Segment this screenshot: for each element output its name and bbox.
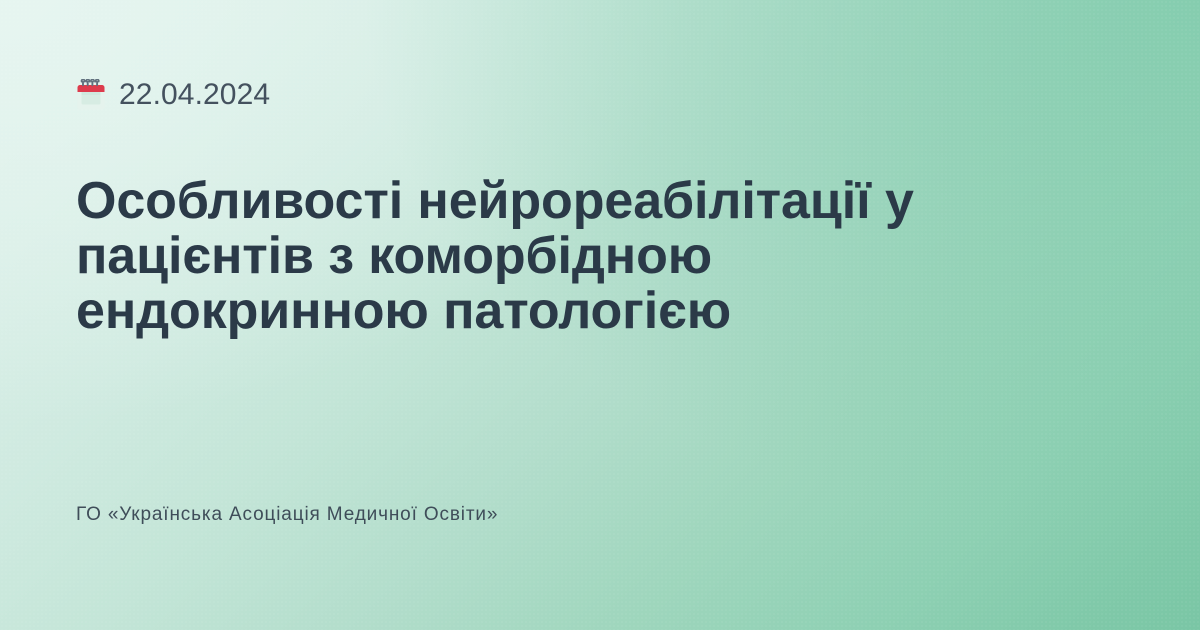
card-content: 22.04.2024 Особливості нейрореабілітації… — [0, 0, 1200, 630]
social-card: 22.04.2024 Особливості нейрореабілітації… — [0, 0, 1200, 630]
calendar-icon — [76, 79, 106, 111]
page-title: Особливості нейрореабілітації у пацієнті… — [76, 174, 981, 339]
page-title-line-3: ендокринною патологією — [76, 284, 981, 339]
organization-name: ГО «Українська Асоціація Медичної Освіти… — [76, 503, 1124, 527]
layout-spacer — [76, 339, 1124, 503]
publication-date: 22.04.2024 — [119, 79, 270, 111]
publication-date-row: 22.04.2024 — [76, 76, 1124, 114]
page-title-line-1: Особливості нейрореабілітації у — [76, 174, 981, 229]
page-title-line-2: пацієнтів з коморбідною — [76, 229, 981, 284]
